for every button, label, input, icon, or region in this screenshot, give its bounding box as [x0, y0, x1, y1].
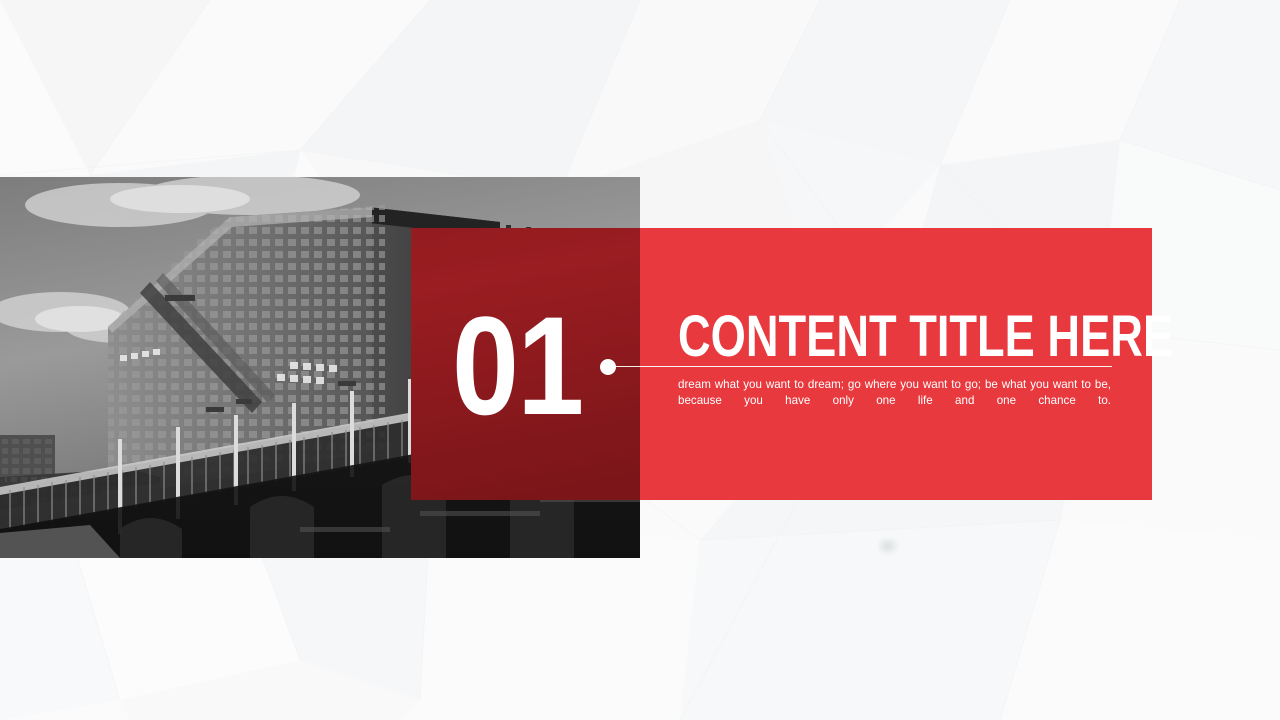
presentation-slide: ​	[0, 0, 1280, 720]
background-smudge	[878, 538, 900, 556]
connector-dot-icon	[600, 359, 616, 375]
section-number: 01	[452, 296, 582, 436]
body-paragraph: dream what you want to dream; go where y…	[678, 377, 1111, 408]
page-title: CONTENT TITLE HERE	[678, 308, 1173, 366]
